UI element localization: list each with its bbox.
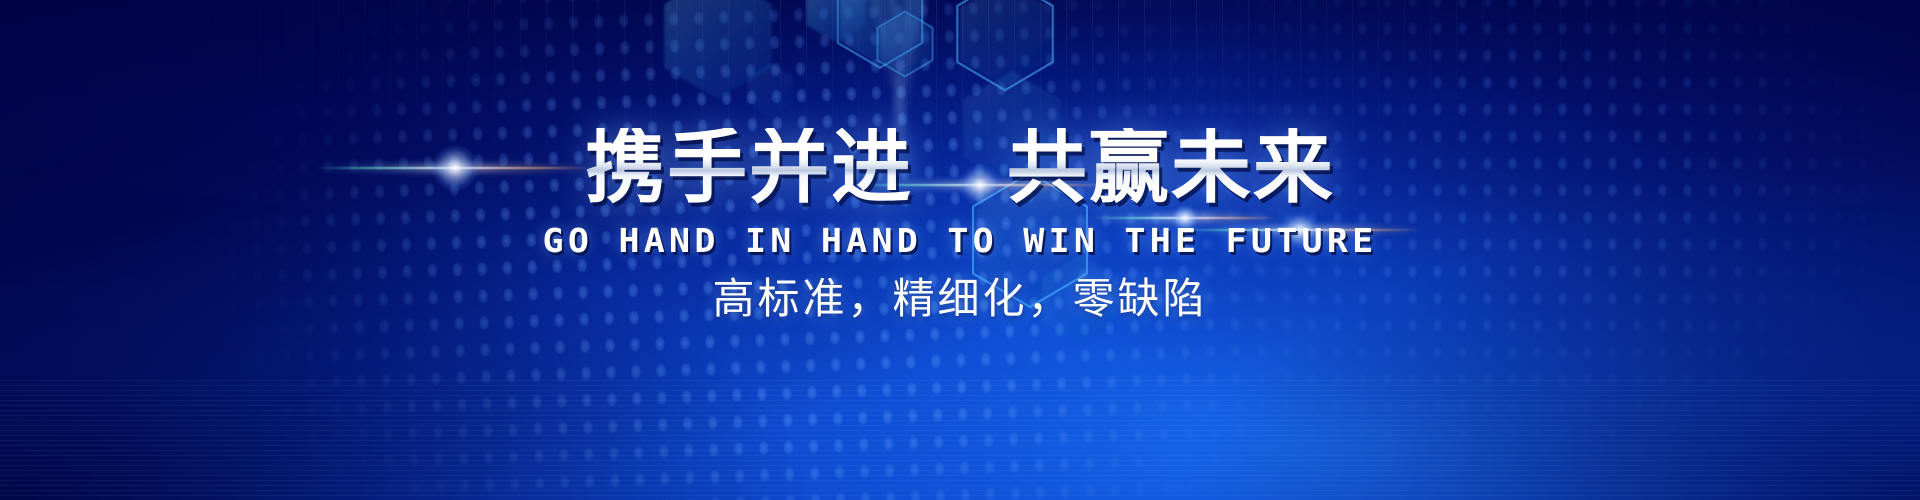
banner-chinese-tagline: 高标准，精细化，零缺陷 [0, 278, 1920, 320]
main-title-part-2: 共赢未来 [1007, 121, 1335, 214]
banner-content: 携手并进 共赢未来 GO HAND IN HAND TO WIN THE FUT… [0, 0, 1920, 500]
banner-main-title: 携手并进 共赢未来 [0, 128, 1920, 208]
main-title-part-1: 携手并进 [585, 121, 913, 214]
banner-english-subtitle: GO HAND IN HAND TO WIN THE FUTURE [0, 224, 1920, 257]
promo-banner: 携手并进 共赢未来 GO HAND IN HAND TO WIN THE FUT… [0, 0, 1920, 500]
